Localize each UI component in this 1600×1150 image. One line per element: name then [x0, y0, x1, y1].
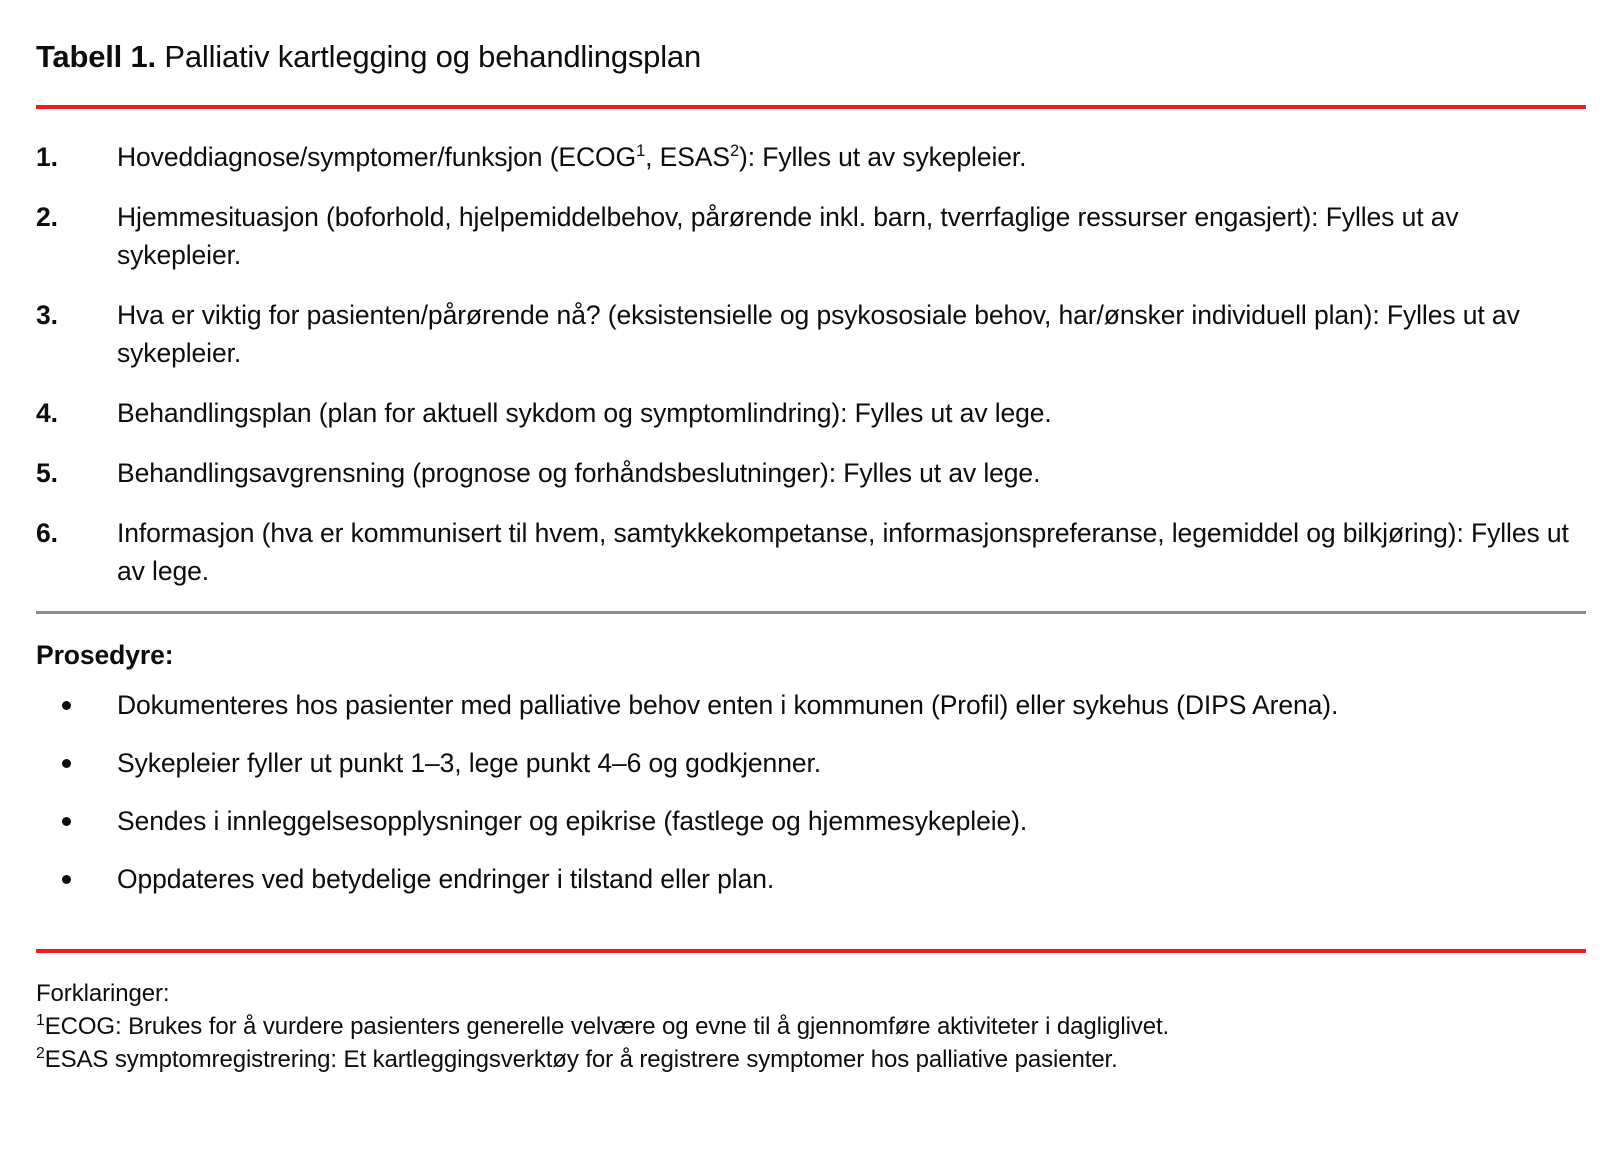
footnote-marker-2: 2	[36, 1045, 45, 1062]
item1-text-mid: , ESAS	[645, 142, 730, 172]
list-item: 2. Hjemmesituasjon (boforhold, hjelpemid…	[25, 198, 1575, 274]
footnote-marker-1: 1	[36, 1012, 45, 1029]
list-item-number: 4.	[36, 394, 58, 432]
table-caption: Palliativ kartlegging og behandlingsplan	[164, 39, 701, 74]
list-item: 1. Hoveddiagnose/symptomer/funksjon (ECO…	[25, 138, 1575, 176]
list-item: 3. Hva er viktig for pasienten/pårørende…	[25, 296, 1575, 372]
bullet-dot-icon	[62, 875, 71, 884]
list-item: Dokumenteres hos pasienter med palliativ…	[25, 686, 1575, 724]
footnote-ecog: 1ECOG: Brukes for å vurdere pasienters g…	[36, 1010, 1575, 1043]
footnotes-heading: Forklaringer:	[36, 977, 1575, 1010]
footnote-ref-esas: 2	[730, 142, 739, 160]
list-item: Oppdateres ved betydelige endringer i ti…	[25, 860, 1575, 898]
item1-text-after: ): Fylles ut av sykepleier.	[739, 142, 1026, 172]
table-figure-page: Tabell 1. Palliativ kartlegging og behan…	[0, 0, 1600, 1150]
procedure-heading: Prosedyre:	[25, 614, 1575, 674]
footnote-esas: 2ESAS symptomregistrering: Et kartleggin…	[36, 1043, 1575, 1076]
list-item-text: Hjemmesituasjon (boforhold, hjelpemiddel…	[117, 202, 1459, 270]
list-item-number: 1.	[36, 138, 58, 176]
list-item: 4. Behandlingsplan (plan for aktuell syk…	[25, 394, 1575, 432]
list-item: 5. Behandlingsavgrensning (prognose og f…	[25, 454, 1575, 492]
footnote-ref-ecog: 1	[636, 142, 645, 160]
list-item-number: 6.	[36, 514, 58, 552]
bullet-item-text: Sendes i innleggelsesopplysninger og epi…	[117, 806, 1027, 836]
list-item-text: Behandlingsavgrensning (prognose og forh…	[117, 458, 1040, 488]
bullet-item-text: Dokumenteres hos pasienter med palliativ…	[117, 690, 1338, 720]
list-item-number: 3.	[36, 296, 58, 334]
item1-text-before: Hoveddiagnose/symptomer/funksjon (ECOG	[117, 142, 636, 172]
list-item-text: Informasjon (hva er kommunisert til hvem…	[117, 518, 1569, 586]
footnote-ecog-text: ECOG: Brukes for å vurdere pasienters ge…	[45, 1013, 1169, 1040]
list-item-number: 5.	[36, 454, 58, 492]
bullet-dot-icon	[62, 701, 71, 710]
list-item: 6. Informasjon (hva er kommunisert til h…	[25, 514, 1575, 590]
bullet-item-text: Sykepleier fyller ut punkt 1–3, lege pun…	[117, 748, 821, 778]
list-item-text: Hva er viktig for pasienten/pårørende nå…	[117, 300, 1520, 368]
list-item: Sykepleier fyller ut punkt 1–3, lege pun…	[25, 744, 1575, 782]
procedure-bullet-list: Dokumenteres hos pasienter med palliativ…	[25, 674, 1575, 898]
page-title: Tabell 1. Palliativ kartlegging og behan…	[36, 38, 1575, 76]
list-item-text: Hoveddiagnose/symptomer/funksjon (ECOG1,…	[117, 142, 1026, 172]
bullet-dot-icon	[62, 817, 71, 826]
footnotes-block: Forklaringer: 1ECOG: Brukes for å vurder…	[25, 953, 1575, 1076]
numbered-list: 1. Hoveddiagnose/symptomer/funksjon (ECO…	[25, 109, 1575, 590]
table-number-label: Tabell 1.	[36, 39, 156, 74]
list-item-text: Behandlingsplan (plan for aktuell sykdom…	[117, 398, 1052, 428]
footnote-esas-text: ESAS symptomregistrering: Et kartlegging…	[45, 1046, 1118, 1073]
list-item-number: 2.	[36, 198, 58, 236]
table-title-block: Tabell 1. Palliativ kartlegging og behan…	[25, 0, 1575, 76]
list-item: Sendes i innleggelsesopplysninger og epi…	[25, 802, 1575, 840]
bullet-dot-icon	[62, 759, 71, 768]
bullet-item-text: Oppdateres ved betydelige endringer i ti…	[117, 864, 774, 894]
